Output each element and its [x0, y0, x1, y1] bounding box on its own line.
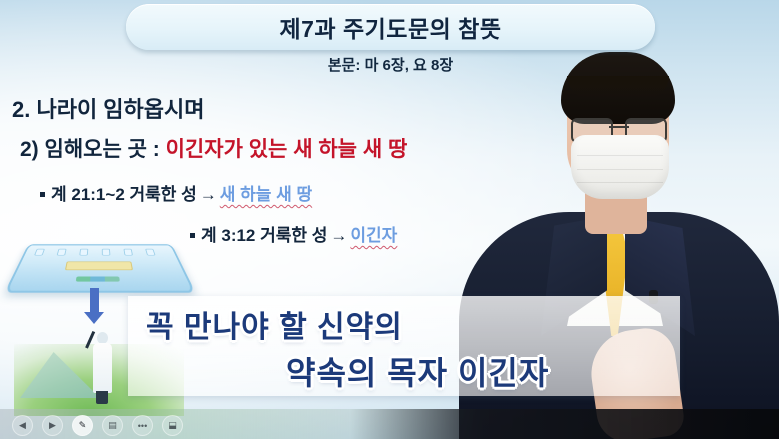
mask-fold — [577, 169, 663, 170]
figure-legs — [96, 391, 108, 404]
bullet-reference: 계 21:1~2 거룩한 성 — [51, 185, 197, 204]
slide-title-bar: 제7과 주기도문의 참뜻 — [126, 4, 655, 50]
slide-view-button[interactable]: ▤ — [102, 415, 123, 436]
city-gate — [145, 249, 156, 256]
mask-fold — [577, 182, 663, 183]
altar — [65, 261, 133, 270]
player-toolbar: ◀ ▶ ✎ ▤ ••• ⬓ — [0, 409, 779, 439]
face-mask — [571, 135, 669, 199]
arrow-down-icon — [84, 312, 104, 324]
section-subheading: 2) 임해오는 곳 : 이긴자가 있는 새 하늘 새 땅 — [20, 133, 407, 163]
caption-line-2: 약속의 목자 이긴자 — [286, 348, 549, 394]
subheading-emphasis: 이긴자가 있는 새 하늘 새 땅 — [166, 138, 408, 161]
city-gate — [79, 249, 88, 256]
descend-arrow-shaft — [90, 288, 99, 314]
foundation-gems — [76, 277, 120, 282]
holy-city-icon — [4, 244, 195, 292]
bullet-reference: 계 3:12 거룩한 성 — [201, 226, 327, 245]
glasses-bridge — [609, 126, 629, 128]
bullet-square-icon — [190, 233, 195, 238]
city-gate — [57, 249, 67, 256]
caption-line-1: 꼭 만나야 할 신약의 — [146, 302, 403, 346]
section-heading: 2. 나라이 임하옵시며 — [12, 92, 205, 124]
grid-icon: ▤ — [108, 420, 117, 431]
bullet-result: 새 하늘 새 땅 — [220, 185, 312, 204]
hair-fringe — [567, 76, 669, 98]
city-gate — [102, 249, 111, 256]
subheading-prefix: 2) 임해오는 곳 : — [20, 138, 166, 161]
caption-banner: 꼭 만나야 할 신약의 약속의 목자 이긴자 — [128, 296, 680, 396]
slide-subtitle: 본문: 마 6장, 요 8장 — [126, 54, 655, 75]
chevron-left-icon: ◀ — [19, 420, 26, 431]
pen-tool-button[interactable]: ✎ — [72, 415, 93, 436]
ellipsis-icon: ••• — [138, 421, 147, 431]
white-robed-figure — [89, 328, 115, 406]
bullet-result: 이긴자 — [350, 226, 397, 245]
bullet-square-icon — [40, 192, 45, 197]
arrow-right-icon: → — [330, 226, 347, 245]
slide-stage: 제7과 주기도문의 참뜻 본문: 마 6장, 요 8장 2. 나라이 임하옵시며… — [0, 0, 779, 439]
bullet-item: 계 3:12 거룩한 성→이긴자 — [190, 221, 397, 246]
arrow-right-icon: → — [200, 185, 217, 204]
chevron-right-icon: ▶ — [49, 420, 56, 431]
pen-icon: ✎ — [79, 420, 87, 431]
presenter-icon: ⬓ — [168, 420, 177, 431]
figure-robe — [93, 343, 112, 393]
previous-slide-button[interactable]: ◀ — [12, 415, 33, 436]
menu-button[interactable]: ••• — [132, 415, 153, 436]
city-gate — [123, 249, 133, 256]
bullet-item: 계 21:1~2 거룩한 성→새 하늘 새 땅 — [40, 180, 312, 205]
next-slide-button[interactable]: ▶ — [42, 415, 63, 436]
presenter-view-button[interactable]: ⬓ — [162, 415, 183, 436]
city-gate — [34, 249, 45, 256]
page-title: 제7과 주기도문의 참뜻 — [279, 10, 501, 44]
mask-fold — [577, 155, 663, 156]
